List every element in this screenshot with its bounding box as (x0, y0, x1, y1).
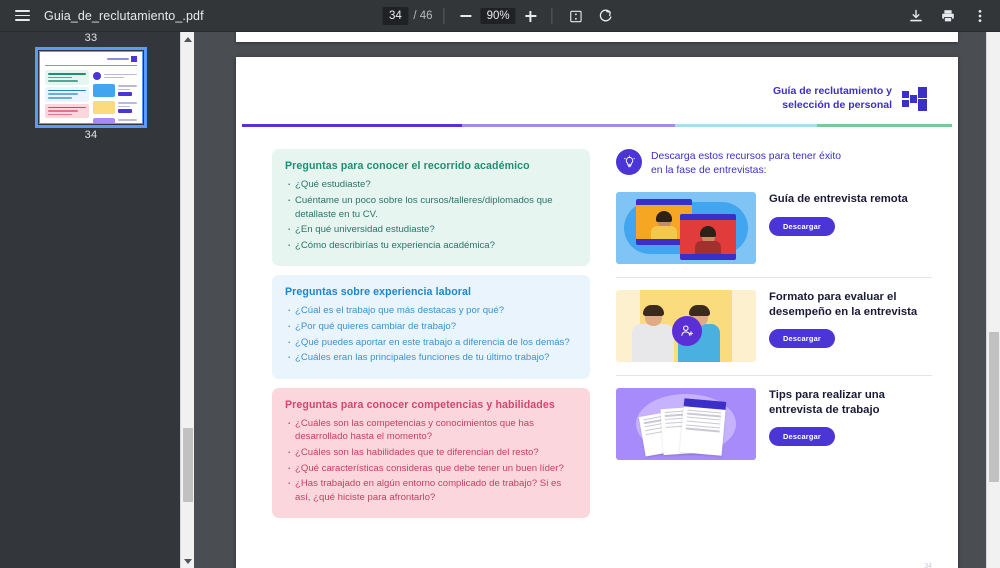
question-item: ¿Cuáles eran las principales funciones d… (285, 351, 577, 365)
zoom-controls: 90% (456, 6, 541, 26)
hamburger-menu-icon[interactable] (10, 4, 34, 28)
resource-card-text: Formato para evaluar el desempeño en la … (769, 290, 932, 348)
resource-card-text: Tips para realizar una entrevista de tra… (769, 388, 932, 446)
resource-card-text: Guía de entrevista remota Descargar (769, 192, 932, 235)
section-progress-bar (242, 124, 952, 127)
video-call-illustration-icon (616, 192, 756, 264)
page-footer-number: 34 (924, 563, 932, 568)
question-item: ¿Qué características consideras que debe… (285, 462, 577, 476)
question-item: ¿Cuáles son las competencias y conocimie… (285, 417, 577, 444)
resources-heading-text: Descarga estos recursos para tener éxito… (651, 149, 841, 178)
toolbar-left: Guia_de_reclutamiento_.pdf (0, 4, 204, 28)
download-resource-button[interactable]: Descargar (769, 427, 835, 446)
thumbnail-page-number: 34 (85, 129, 98, 141)
resources-heading-line-1: Descarga estos recursos para tener éxito (651, 150, 841, 164)
resource-card: Formato para evaluar el desempeño en la … (616, 290, 932, 376)
scroll-up-arrow-icon[interactable] (181, 32, 194, 46)
thumbnail-sidebar: 29 (0, 32, 194, 568)
question-list: ¿Cúal es el trabajo que más destacas y p… (285, 304, 577, 364)
question-item: ¿Qué puedes aportar en este trabajo a di… (285, 336, 577, 350)
resources-heading: Descarga estos recursos para tener éxito… (616, 149, 932, 178)
question-item: ¿Por qué quieres cambiar de trabajo? (285, 320, 577, 334)
question-block-title: Preguntas sobre experiencia laboral (285, 286, 577, 298)
toolbar-divider-1 (444, 8, 445, 24)
header-line-2: selección de personal (773, 99, 892, 113)
zoom-out-icon[interactable] (456, 6, 476, 26)
question-list: ¿Qué estudiaste? Cuéntame un poco sobre … (285, 178, 577, 252)
question-block-skills: Preguntas para conocer competencias y ha… (272, 388, 590, 519)
resource-card-title: Guía de entrevista remota (769, 192, 932, 206)
scroll-down-arrow-icon[interactable] (181, 554, 194, 568)
question-item: ¿Cúal es el trabajo que más destacas y p… (285, 304, 577, 318)
viewer-scrollbar-thumb[interactable] (989, 332, 999, 482)
more-vertical-icon[interactable] (968, 4, 992, 28)
download-resource-button[interactable]: Descargar (769, 217, 835, 236)
question-item: ¿Cómo describirías tu experiencia académ… (285, 239, 577, 253)
question-block-experience: Preguntas sobre experiencia laboral ¿Cúa… (272, 275, 590, 378)
page-navigation: / 46 (382, 7, 432, 25)
previous-page-edge (236, 32, 958, 42)
pdf-page: Guía de reclutamiento y selección de per… (236, 57, 958, 568)
download-resource-button[interactable]: Descargar (769, 329, 835, 348)
lightbulb-icon (616, 149, 642, 175)
resource-card-title: Formato para evaluar el desempeño en la … (769, 290, 932, 319)
thumbnail-item-selected[interactable]: 34 (39, 51, 143, 148)
resources-column: Descarga estos recursos para tener éxito… (616, 149, 932, 527)
toolbar: Guia_de_reclutamiento_.pdf / 46 90% (0, 0, 1000, 32)
question-item: ¿Qué estudiaste? (285, 178, 577, 192)
page-thumbnail[interactable] (39, 51, 143, 124)
fit-to-page-icon[interactable] (564, 4, 588, 28)
document-viewer[interactable]: Guía de reclutamiento y selección de per… (194, 32, 1000, 568)
download-icon[interactable] (904, 4, 928, 28)
question-item: Cuéntame un poco sobre los cursos/taller… (285, 194, 577, 221)
page-number-input[interactable] (382, 7, 408, 25)
question-block-title: Preguntas para conocer el recorrido acad… (285, 160, 577, 172)
resource-card: Tips para realizar una entrevista de tra… (616, 388, 932, 473)
question-block-academic: Preguntas para conocer el recorrido acad… (272, 149, 590, 266)
page-count-label: / 46 (413, 10, 432, 22)
zoom-level-label[interactable]: 90% (481, 8, 516, 24)
document-title: Guia_de_reclutamiento_.pdf (44, 9, 204, 23)
question-item: ¿Cuáles son las habilidades que te difer… (285, 446, 577, 460)
page-header-title: Guía de reclutamiento y selección de per… (773, 85, 892, 112)
header-line-1: Guía de reclutamiento y (773, 85, 892, 99)
question-list: ¿Cuáles son las competencias y conocimie… (285, 417, 577, 505)
thumbnail-list: 29 (0, 32, 182, 568)
pdf-viewer-app: Guia_de_reclutamiento_.pdf / 46 90% (0, 0, 1000, 568)
toolbar-divider-2 (552, 8, 553, 24)
page-header: Guía de reclutamiento y selección de per… (236, 57, 958, 112)
toolbar-center: / 46 90% (382, 0, 617, 32)
resource-card: Guía de entrevista remota Descargar (616, 192, 932, 278)
viewer-scrollbar[interactable] (986, 32, 1000, 568)
print-icon[interactable] (936, 4, 960, 28)
two-people-illustration-icon (616, 290, 756, 362)
question-block-title: Preguntas para conocer competencias y ha… (285, 399, 577, 411)
toolbar-right (904, 0, 992, 32)
sidebar-scrollbar-thumb[interactable] (183, 428, 193, 502)
rotate-icon[interactable] (594, 4, 618, 28)
questions-column: Preguntas para conocer el recorrido acad… (272, 149, 590, 527)
question-item: ¿Has trabajado en algún entorno complica… (285, 477, 577, 504)
brand-logo-icon (902, 87, 928, 111)
thumbnail-item[interactable]: 11. (39, 32, 143, 51)
resources-heading-line-2: en la fase de entrevistas: (651, 164, 841, 178)
resource-card-title: Tips para realizar una entrevista de tra… (769, 388, 932, 417)
documents-illustration-icon (616, 388, 756, 460)
question-item: ¿En qué universidad estudiaste? (285, 223, 577, 237)
sidebar-scrollbar[interactable] (180, 32, 194, 568)
thumbnail-page-number: 33 (85, 32, 98, 44)
viewer-body: 29 (0, 32, 1000, 568)
zoom-in-icon[interactable] (521, 6, 541, 26)
page-content: Preguntas para conocer el recorrido acad… (236, 127, 958, 527)
